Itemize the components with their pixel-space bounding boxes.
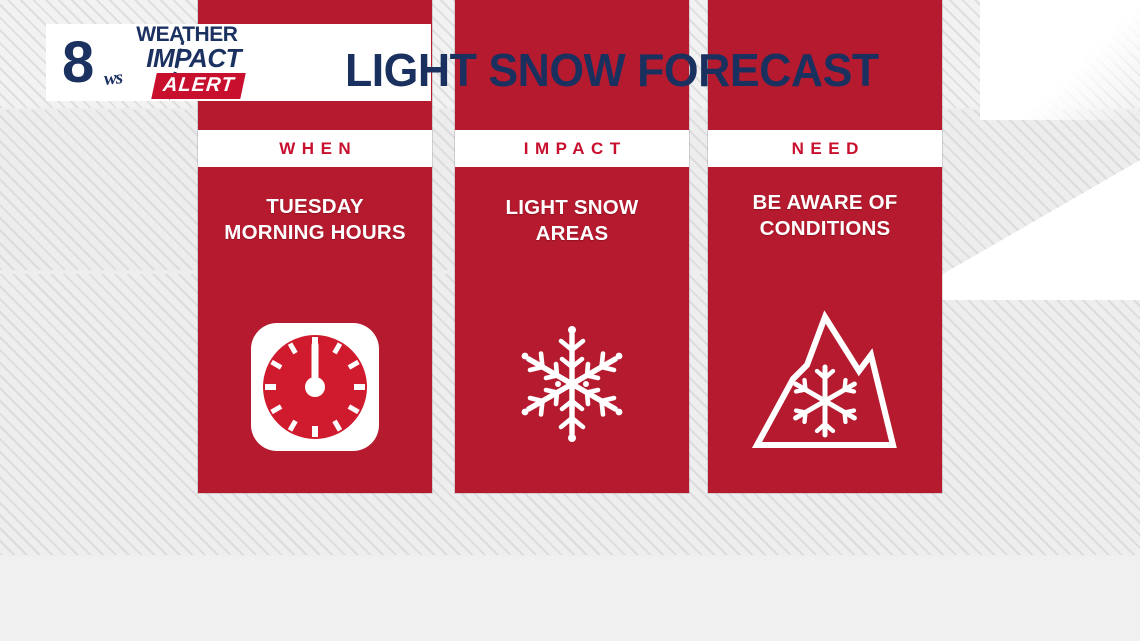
- logo-line-alert: ALERT: [162, 74, 236, 97]
- card-header-label: WHEN: [273, 139, 357, 159]
- logo-line-impact: IMPACT: [146, 45, 243, 72]
- card-body-line-2: AREAS: [461, 221, 683, 247]
- card-header-label: NEED: [785, 139, 865, 159]
- mountain-snowflake: [796, 367, 855, 435]
- channel-number: 8 ws: [62, 35, 92, 90]
- card-icon-slot-when: [198, 309, 432, 464]
- card-body-line-1: BE AWARE OF: [714, 190, 936, 216]
- card-body-line-1: TUESDAY: [204, 194, 426, 220]
- clock-icon: [247, 317, 383, 457]
- weather-impact-alert-lockup: WEATHER IMPACT ALERT: [136, 24, 243, 99]
- card-body-line-2: CONDITIONS: [714, 216, 936, 242]
- card-body-line-1: LIGHT SNOW: [461, 195, 683, 221]
- logo-alert-badge: ALERT: [152, 73, 247, 99]
- card-body-when: TUESDAY MORNING HOURS: [204, 194, 426, 246]
- channel-number-text: 8: [62, 30, 92, 95]
- card-body-line-2: MORNING HOURS: [204, 220, 426, 246]
- card-body-impact: LIGHT SNOW AREAS: [461, 195, 683, 247]
- page-title: LIGHT SNOW FORECAST: [345, 43, 879, 97]
- card-icon-slot-impact: [455, 314, 689, 454]
- card-body-need: BE AWARE OF CONDITIONS: [714, 190, 936, 242]
- card-header-when: WHEN: [198, 130, 432, 167]
- snowy-mountain-icon: [749, 305, 901, 457]
- channel-suffix: ws: [103, 69, 123, 89]
- card-header-impact: IMPACT: [455, 130, 689, 167]
- card-header-label: IMPACT: [517, 139, 626, 159]
- logo-line-weather: WEATHER: [136, 24, 243, 45]
- card-icon-slot-need: [708, 301, 942, 461]
- snowflake-icon: [512, 322, 632, 446]
- card-header-need: NEED: [708, 130, 942, 167]
